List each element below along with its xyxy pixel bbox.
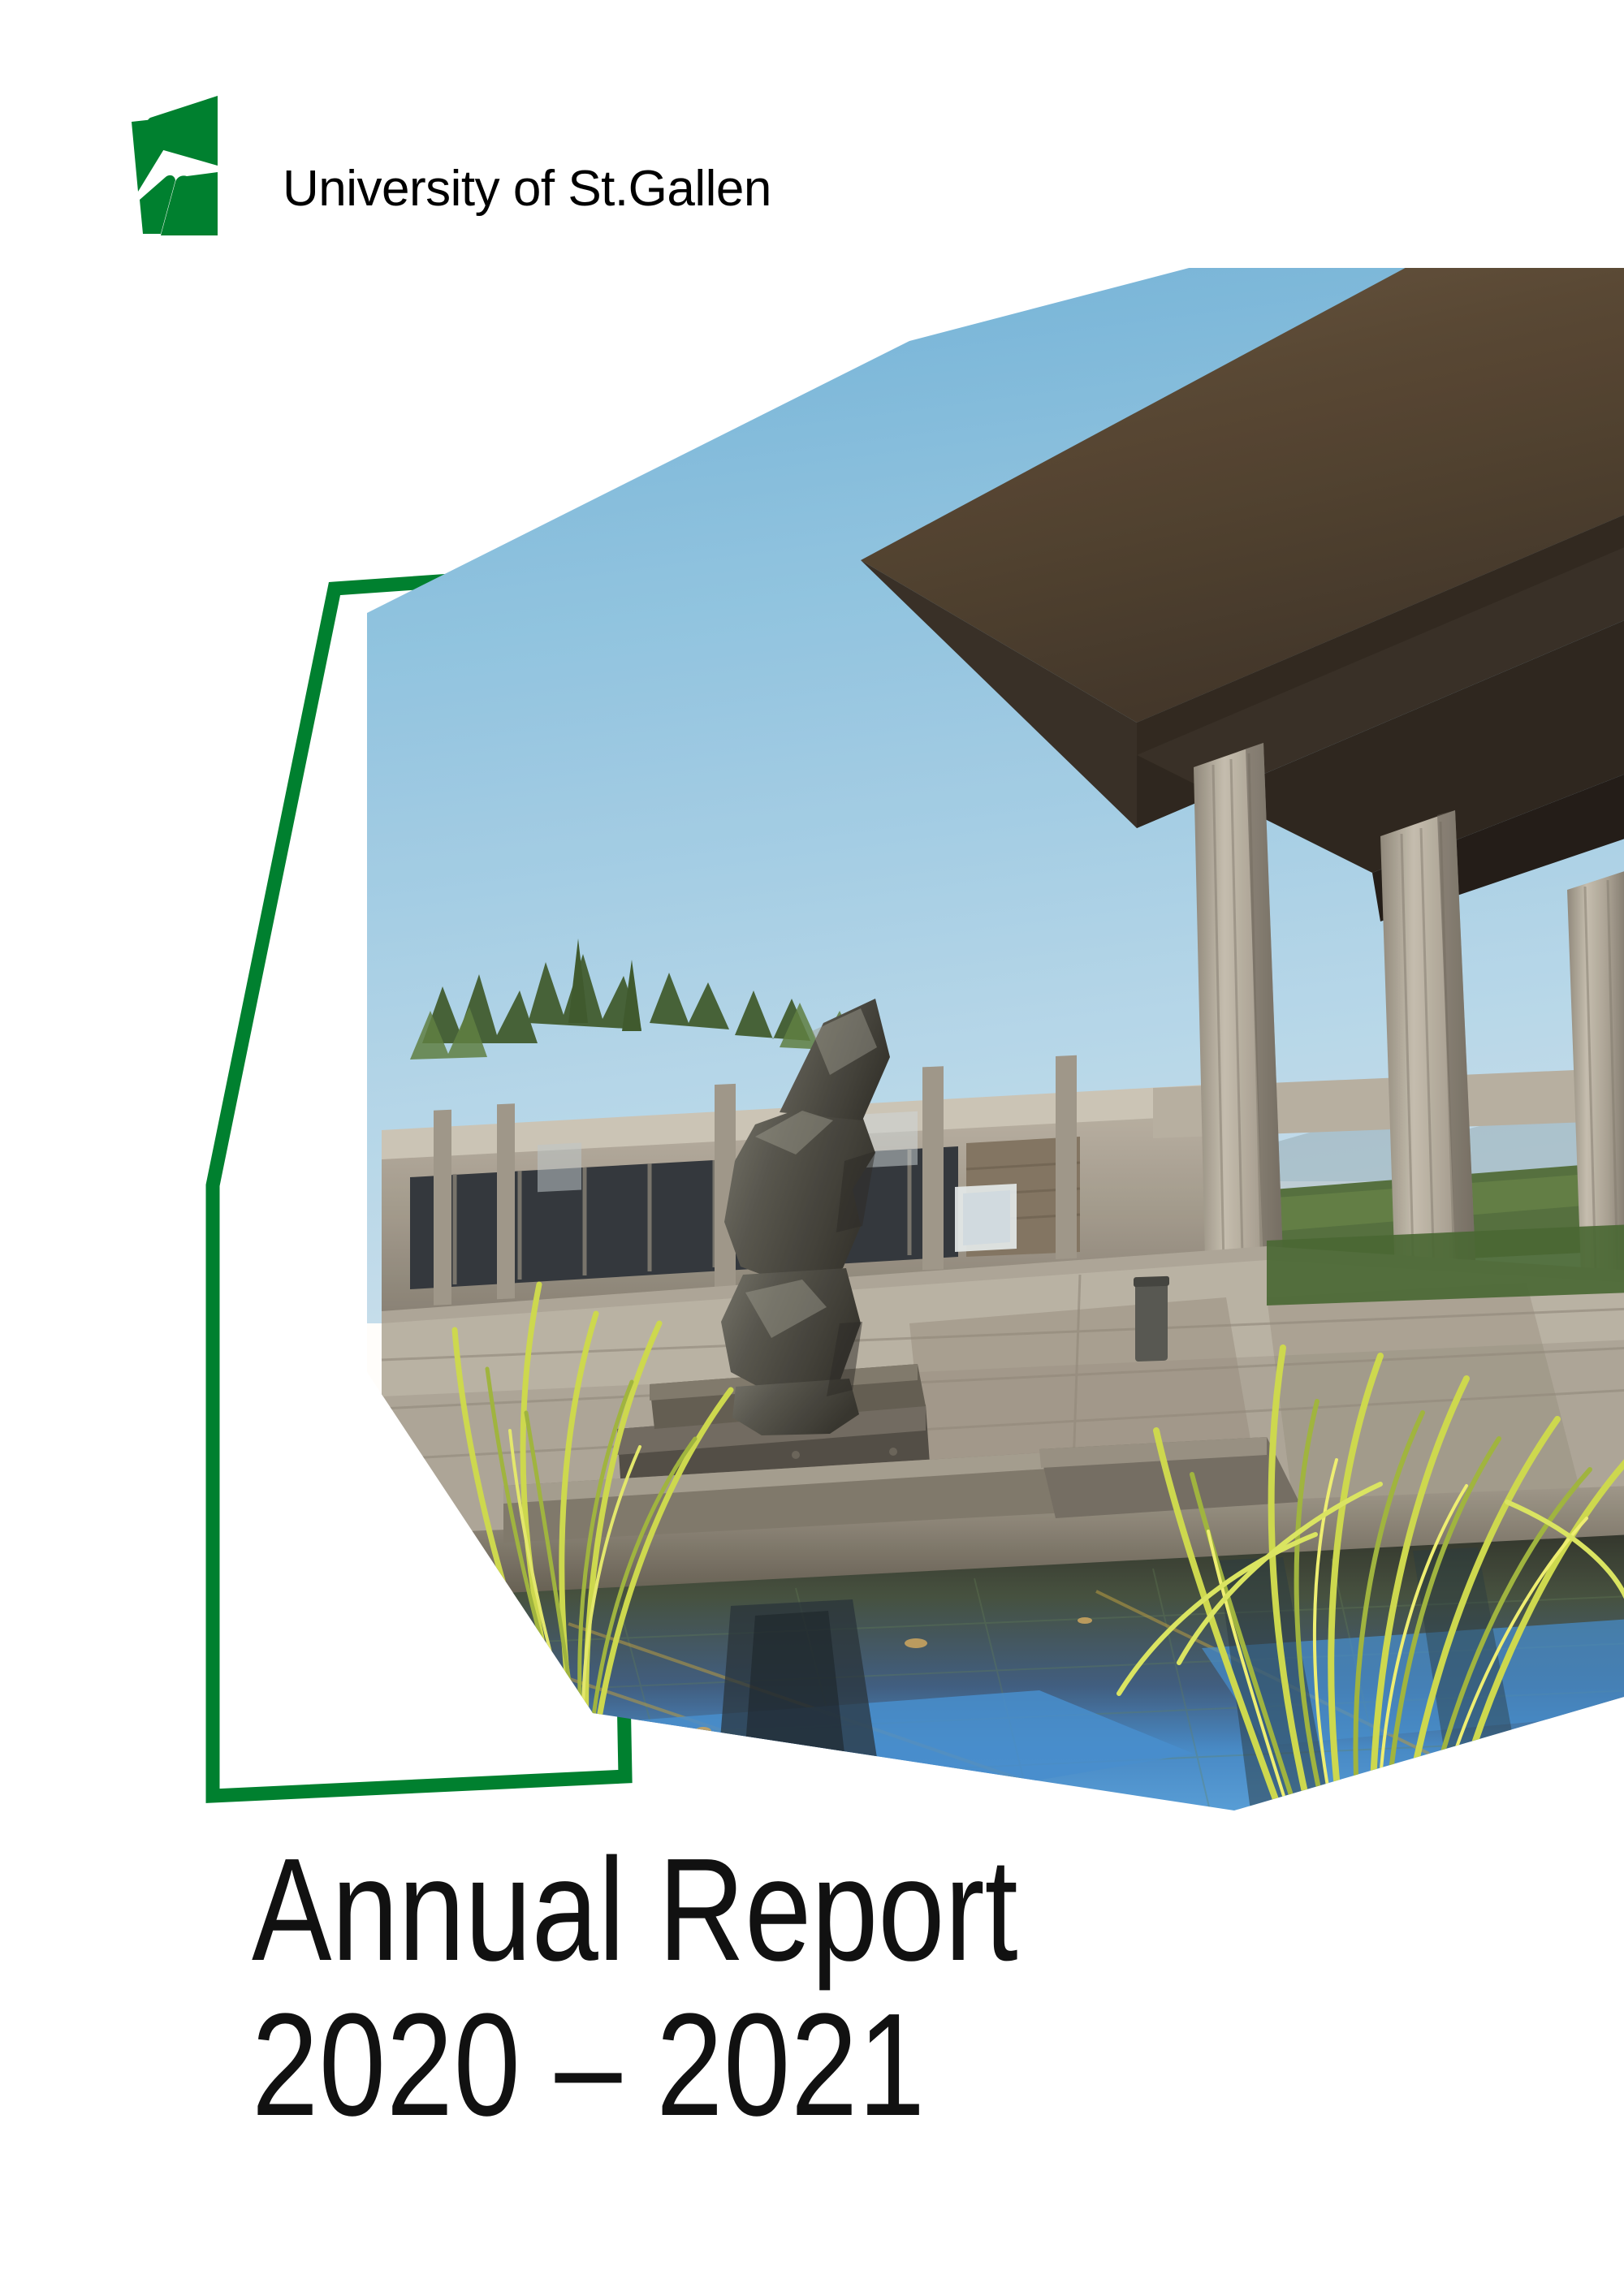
cover-title-years: 2020 – 2021 (252, 1988, 1018, 2143)
cover-title-main: Annual Report (252, 1833, 1018, 1988)
cover-page: University of St.Gallen (0, 0, 1624, 2296)
brand-wordmark: University of St.Gallen (283, 164, 771, 237)
hsg-fan-logo-icon (110, 93, 247, 237)
brand-lockup: University of St.Gallen (110, 91, 771, 237)
artwork-svg (0, 268, 1624, 1810)
cover-artwork (0, 268, 1624, 1810)
campus-photograph (325, 268, 1624, 1810)
cover-title-block: Annual Report 2020 – 2021 (252, 1833, 1186, 2143)
